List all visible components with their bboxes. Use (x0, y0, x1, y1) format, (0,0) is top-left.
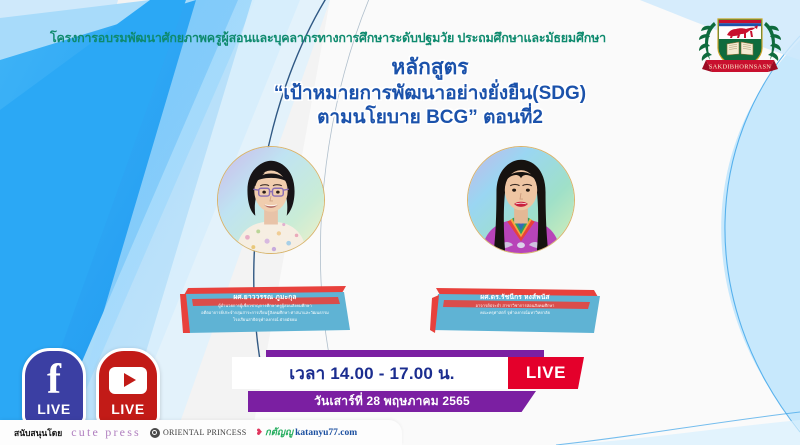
school-crest-logo: SAKDIBHORNSASN (694, 6, 786, 78)
sponsor-oriental-princess-label: ORIENTAL PRINCESS (163, 428, 247, 437)
speaker-credential-1-line-3: โรงเรียนสาธิตจุฬาลงกรณ์ ฝ่ายมัธยม (180, 317, 350, 323)
poster-canvas: โครงการอบรมพัฒนาศักยภาพครูผู้สอนและบุคลา… (0, 0, 800, 445)
oriental-princess-icon (150, 428, 160, 438)
live-badge: LIVE (508, 357, 584, 389)
speaker-name-1: ผศ.ยาววรรณ ภูมะกุล (180, 291, 350, 302)
speaker-name-2: ผศ.ดร.รัชนีกร หงส์พนัส (430, 291, 600, 302)
page-title: หลักสูตร “เป้าหมายการพัฒนาอย่างยั่งยืน(S… (180, 56, 680, 130)
sponsor-cute-press: cute press (71, 425, 141, 440)
portrait-illustration-two (468, 147, 574, 253)
sponsor-bar: สนับสนุนโดย cute press ORIENTAL PRINCESS… (0, 420, 402, 445)
facebook-live-button[interactable]: f LIVE (22, 348, 86, 426)
program-header-line: โครงการอบรมพัฒนาศักยภาพครูผู้สอนและบุคลา… (50, 28, 670, 48)
event-date-band: วันเสาร์ที่ 28 พฤษภาคม 2565 (248, 391, 536, 412)
sponsor-katanyu: ❥ กตัญญู katanyu77.com (255, 425, 357, 440)
sponsor-label: สนับสนุนโดย (14, 426, 62, 440)
portrait-illustration-one (218, 147, 324, 253)
crest-ribbon-text: SAKDIBHORNSASN (709, 64, 772, 71)
title-line-1: หลักสูตร (180, 56, 680, 81)
facebook-live-label: LIVE (37, 401, 71, 417)
speaker-photo-1 (217, 146, 325, 254)
title-line-3: ตามนโยบาย BCG” ตอนที่2 (180, 107, 680, 129)
sponsor-katanyu-th: กตัญญู (265, 425, 293, 440)
event-date: วันเสาร์ที่ 28 พฤษภาคม 2565 (314, 392, 470, 411)
banner-accent-bar (266, 350, 544, 357)
event-time: เวลา 14.00 - 17.00 น. (232, 357, 512, 389)
facebook-icon: f (47, 360, 61, 400)
schedule-banner: เวลา 14.00 - 17.00 น. LIVE วันเสาร์ที่ 2… (222, 350, 570, 412)
youtube-live-label: LIVE (111, 401, 145, 417)
speaker-credential-1-line-1: ผู้อำนวยการผู้เชี่ยวชาญการศึกษาครูผู้สอน… (180, 303, 350, 309)
speaker-credential-1-line-2: อดีตอาจารย์ประจำกลุ่มสาระการเรียนรู้สังค… (180, 310, 350, 316)
speaker-credential-2-line-2: คณะครุศาสตร์ จุฬาลงกรณ์มหาวิทยาลัย (430, 310, 600, 316)
speaker-credential-2-line-1: อาจารย์ประจำ สาขาวิชาการสอนสังคมศึกษา (430, 303, 600, 309)
youtube-icon (109, 360, 147, 400)
leaf-icon: ❥ (255, 427, 263, 438)
sponsor-oriental-princess: ORIENTAL PRINCESS (150, 428, 247, 438)
nameplate-text-1: ผศ.ยาววรรณ ภูมะกุล ผู้อำนวยการผู้เชี่ยวช… (180, 291, 350, 323)
title-line-2: “เป้าหมายการพัฒนาอย่างยั่งยืน(SDG) (180, 83, 680, 105)
live-badge-label: LIVE (526, 363, 566, 383)
youtube-live-button[interactable]: LIVE (96, 348, 160, 426)
speaker-photo-2 (467, 146, 575, 254)
speaker-nameplate-1: ผศ.ยาววรรณ ภูมะกุล ผู้อำนวยการผู้เชี่ยวช… (180, 286, 350, 334)
social-live-badges: f LIVE LIVE (22, 348, 160, 426)
sponsor-katanyu-en: katanyu77.com (295, 428, 357, 438)
speaker-nameplate-2: ผศ.ดร.รัชนีกร หงส์พนัส อาจารย์ประจำ สาขา… (430, 286, 600, 334)
nameplate-text-2: ผศ.ดร.รัชนีกร หงส์พนัส อาจารย์ประจำ สาขา… (430, 291, 600, 316)
